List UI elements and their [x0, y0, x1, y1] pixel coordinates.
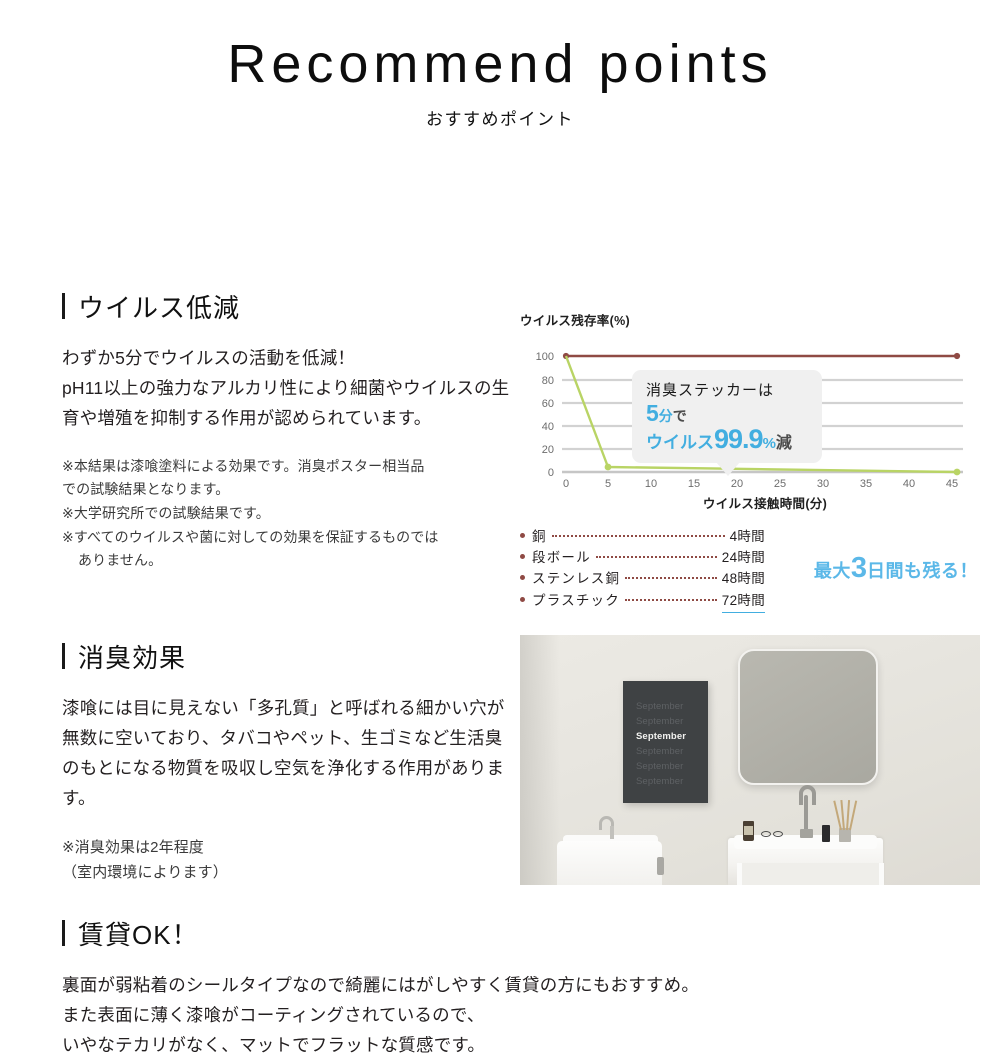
section1-body: わずか5分でウイルスの活動を低減！ pH11以上の強力なアルカリ性により細菌やウ… — [62, 343, 517, 433]
photo-sink-faucet-icon — [799, 785, 816, 837]
photo-reed-diffuser — [836, 798, 854, 842]
badge-suffix: 日間も残る！ — [867, 561, 978, 581]
section2-heading: 消臭効果 — [62, 638, 517, 675]
photo-amber-jar — [743, 821, 754, 841]
callout-virus-word: ウイルス — [646, 433, 714, 452]
note-line: ※本結果は漆喰塗料による効果です。消臭ポスター相当品 — [62, 458, 425, 474]
legend-label: 段ボール — [532, 547, 591, 568]
legend-bullet-icon — [520, 575, 525, 580]
svg-text:30: 30 — [817, 478, 829, 487]
section3-column: 賃貸OK！ 裏面が弱粘着のシールタイプなので綺麗にはがしやすく賃貸の方にもおすす… — [62, 915, 942, 1060]
legend-label: ステンレス銅 — [532, 568, 620, 589]
svg-text:5: 5 — [605, 478, 611, 487]
legend-bullet-icon — [520, 554, 525, 559]
badge-number: 3 — [851, 552, 867, 584]
page-subtitle: おすすめポイント — [0, 105, 1000, 130]
svg-text:40: 40 — [903, 478, 915, 487]
svg-text:0: 0 — [548, 467, 554, 479]
svg-text:0: 0 — [563, 478, 569, 487]
section1-heading: ウイルス低減 — [62, 288, 517, 325]
note-line: （室内環境によります） — [62, 864, 228, 881]
section2-body: 漆喰には目に見えない「多孔質」と呼ばれる細かい穴が無数に空いており、タバコやペッ… — [62, 693, 517, 813]
photo-eyeglasses — [761, 831, 787, 838]
callout-line1: 消臭ステッカーは — [646, 379, 816, 400]
callout-percent-value: 99.9 — [714, 424, 763, 454]
heading-bar-icon — [62, 920, 65, 946]
legend-bullet-icon — [520, 533, 525, 538]
svg-text:25: 25 — [774, 478, 786, 487]
legend-item: 銅 4時間 — [520, 526, 765, 547]
section3-body: 裏面が弱粘着のシールタイプなので綺麗にはがしやすく賃貸の方にもおすすめ。 また表… — [62, 970, 942, 1060]
callout-reduce-word: 減 — [776, 435, 792, 452]
legend-leader — [625, 599, 717, 601]
bathroom-photo: September September September September … — [520, 635, 980, 885]
photo-toilet-handle — [657, 857, 664, 875]
heading-bar-icon — [62, 643, 65, 669]
page-title: Recommend points — [0, 36, 1000, 93]
legend-item: プラスチック 72時間 — [520, 590, 765, 613]
section1-chart-column: ウイルス残存率(%) 100 80 60 40 20 0 — [520, 310, 980, 608]
svg-text:20: 20 — [731, 478, 743, 487]
section3-heading-label: 賃貸OK！ — [78, 915, 199, 952]
note-line: ありません。 — [62, 549, 517, 573]
svg-text:80: 80 — [542, 375, 554, 387]
note-line: ※大学研究所での試験結果です。 — [62, 505, 270, 521]
legend-bullet-icon — [520, 597, 525, 602]
section2-photo-column: September September September September … — [520, 635, 980, 885]
photo-dark-bottle — [822, 825, 830, 842]
legend-value: 72時間 — [722, 590, 765, 613]
svg-text:35: 35 — [860, 478, 872, 487]
heading-bar-icon — [62, 293, 65, 319]
photo-toilet-tank — [557, 841, 662, 885]
legend-leader — [552, 535, 725, 537]
legend-leader — [625, 577, 717, 579]
note-line: ※すべてのウイルスや菌に対しての効果を保証するものでは — [62, 529, 438, 545]
callout-minutes-unit: 分 — [659, 408, 673, 424]
section1-text-column: ウイルス低減 わずか5分でウイルスの活動を低減！ pH11以上の強力なアルカリ性… — [62, 288, 517, 573]
recommend-points-page: Recommend points おすすめポイント ウイルス低減 わずか5分でウ… — [0, 0, 1000, 130]
callout-minutes: 5 — [646, 400, 659, 426]
chart-callout: 消臭ステッカーは 5分で ウイルス99.9%減 — [632, 370, 822, 464]
section3-heading: 賃貸OK！ — [62, 915, 942, 952]
note-line: での試験結果となります。 — [62, 481, 229, 497]
callout-line2: 5分で — [646, 401, 816, 426]
svg-text:40: 40 — [542, 421, 554, 433]
chart-plot-area: 100 80 60 40 20 0 — [520, 337, 975, 487]
callout-line2-tail: で — [673, 408, 687, 424]
legend-label: プラスチック — [532, 590, 620, 611]
svg-text:20: 20 — [542, 444, 554, 456]
legend-list: 銅 4時間 段ボール 24時間 ステンレス銅 48時間 — [520, 526, 765, 613]
legend-item: 段ボール 24時間 — [520, 547, 765, 568]
badge-prefix: 最大 — [814, 561, 851, 581]
survival-time-legend: 銅 4時間 段ボール 24時間 ステンレス銅 48時間 — [520, 526, 980, 608]
svg-text:15: 15 — [688, 478, 700, 487]
poster-line: September — [636, 774, 708, 789]
photo-toilet-faucet-icon — [599, 816, 615, 838]
poster-line-active: September — [636, 729, 708, 744]
poster-line: September — [636, 699, 708, 714]
chart-y-axis-title: ウイルス残存率(%) — [520, 310, 980, 329]
legend-label: 銅 — [532, 526, 547, 547]
section1-notes: ※本結果は漆喰塗料による効果です。消臭ポスター相当品 での試験結果となります。 … — [62, 455, 517, 573]
poster-line: September — [636, 744, 708, 759]
legend-value: 48時間 — [722, 568, 765, 589]
section2-notes: ※消臭効果は2年程度 （室内環境によります） — [62, 835, 517, 885]
svg-text:100: 100 — [536, 351, 554, 363]
note-line: ※消臭効果は2年程度 — [62, 839, 204, 856]
photo-poster: September September September September … — [623, 681, 708, 803]
legend-value: 4時間 — [730, 526, 765, 547]
legend-item: ステンレス銅 48時間 — [520, 568, 765, 589]
callout-percent-sign: % — [763, 435, 776, 452]
section2-text-column: 消臭効果 漆喰には目に見えない「多孔質」と呼ばれる細かい穴が無数に空いており、タ… — [62, 638, 517, 886]
poster-line: September — [636, 759, 708, 774]
poster-line: September — [636, 714, 708, 729]
max-days-badge: 最大3日間も残る！ — [814, 552, 978, 585]
photo-wall-shadow — [520, 635, 560, 885]
photo-mirror — [738, 649, 878, 785]
section2-heading-label: 消臭効果 — [78, 638, 186, 675]
section1-heading-label: ウイルス低減 — [78, 288, 240, 325]
callout-line3: ウイルス99.9%減 — [646, 426, 816, 453]
chart-x-axis-title: ウイルス接触時間(分) — [520, 493, 980, 512]
legend-value: 24時間 — [722, 547, 765, 568]
page-header: Recommend points おすすめポイント — [0, 0, 1000, 130]
legend-leader — [596, 556, 717, 558]
virus-survival-chart: ウイルス残存率(%) 100 80 60 40 20 0 — [520, 310, 980, 512]
svg-text:45: 45 — [946, 478, 958, 487]
svg-text:60: 60 — [542, 398, 554, 410]
svg-text:10: 10 — [645, 478, 657, 487]
